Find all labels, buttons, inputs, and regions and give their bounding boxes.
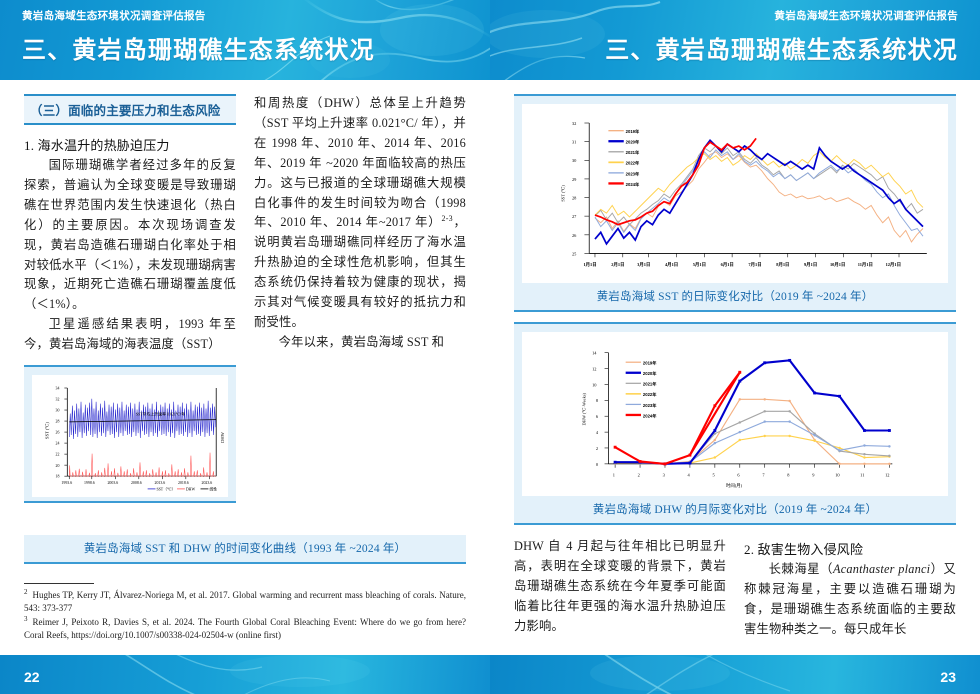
figure-plot-sst-dhw: 18 20 22 24 26 28 30 32 34 — [32, 375, 228, 497]
svg-text:2003.6: 2003.6 — [107, 481, 118, 485]
svg-text:11: 11 — [860, 472, 864, 477]
left-column-1: （三）面临的主要压力和生态风险 1. 海水温升的热胁迫压力 国际珊瑚礁学者经过多… — [24, 94, 236, 503]
left-page-body: （三）面临的主要压力和生态风险 1. 海水温升的热胁迫压力 国际珊瑚礁学者经过多… — [0, 80, 490, 655]
figure-plot-sst-daily: 25 26 27 28 29 30 31 32 SST (℃) 1月1日 — [522, 104, 948, 283]
figure-caption-dhw-monthly: 黄岩岛海域 DHW 的月际变化对比（2019 年 ~2024 年） — [522, 496, 948, 519]
chapter-title-right: 三、黄岩岛珊瑚礁生态系统状况 — [605, 30, 958, 65]
left-page: 黄岩岛海域生态环境状况调查评估报告 三、黄岩岛珊瑚礁生态系统状况 （三）面临的主… — [0, 0, 490, 694]
left-page-columns: （三）面临的主要压力和生态风险 1. 海水温升的热胁迫压力 国际珊瑚礁学者经过多… — [24, 94, 466, 503]
svg-text:2: 2 — [596, 446, 598, 451]
figure-caption-sst-dhw: 黄岩岛海域 SST 和 DHW 的时间变化曲线（1993 年 ~2024 年） — [32, 535, 458, 558]
svg-text:24: 24 — [56, 442, 60, 446]
svg-text:9月1日: 9月1日 — [804, 261, 817, 268]
svg-text:22: 22 — [56, 453, 60, 457]
svg-text:11月1日: 11月1日 — [858, 261, 873, 268]
cots-species-italic: Acanthaster planci — [833, 562, 930, 576]
footnote-3: 3Reimer J, Peixoto R, Davies S, et al. 2… — [24, 615, 466, 642]
svg-text:时间(月): 时间(月) — [726, 482, 743, 489]
left-column-2: 和周热度（DHW）总体呈上升趋势（SST 平均上升速率 0.021°C/ 年），… — [254, 94, 466, 503]
svg-text:DHW: DHW — [186, 487, 196, 491]
svg-text:32: 32 — [572, 121, 576, 126]
svg-text:2: 2 — [638, 472, 640, 477]
chart-dhw-monthly-compare: 0 2 4 6 8 10 12 14 DHW (℃·Weeks) 1 — [524, 334, 946, 494]
svg-text:3月1日: 3月1日 — [637, 261, 650, 268]
svg-text:1: 1 — [613, 472, 615, 477]
svg-text:34: 34 — [56, 387, 60, 391]
figure-caption-box-left: 黄岩岛海域 SST 和 DHW 的时间变化曲线（1993 年 ~2024 年） — [24, 535, 466, 564]
svg-text:26: 26 — [56, 431, 60, 435]
figure-caption-sst-daily: 黄岩岛海域 SST 的日际变化对比（2019 年 ~2024 年） — [522, 283, 948, 306]
svg-text:DHW: DHW — [220, 431, 225, 442]
svg-text:2013.6: 2013.6 — [154, 481, 165, 485]
paragraph-cots: 长棘海星（Acanthaster planci）又称棘冠海星，主要以造礁石珊瑚为… — [744, 560, 956, 640]
paragraph-4: 今年以来，黄岩岛海域 SST 和 — [254, 333, 466, 353]
svg-text:2021年: 2021年 — [626, 149, 640, 156]
svg-text:2024年: 2024年 — [626, 181, 640, 188]
svg-text:SST平均上升速率 0.021℃/年: SST平均上升速率 0.021℃/年 — [136, 411, 185, 416]
right-page-footer: 23 — [490, 655, 980, 694]
svg-text:18: 18 — [56, 475, 60, 479]
footnotes: 2Hughes TP, Kerry JT, Álvarez-Noriega M,… — [24, 583, 466, 643]
figure-box-dhw-monthly: 0 2 4 6 8 10 12 14 DHW (℃·Weeks) 1 — [514, 322, 956, 525]
footnote-3-number: 3 — [24, 615, 28, 623]
svg-text:SST (℃): SST (℃) — [560, 185, 565, 202]
svg-text:1月1日: 1月1日 — [583, 261, 596, 268]
svg-text:2月1日: 2月1日 — [611, 261, 624, 268]
svg-text:2020年: 2020年 — [643, 370, 657, 377]
footer-caustics-decoration-right — [490, 655, 980, 694]
right-column-1: DHW 自 4 月起与往年相比已明显升高，表明在全球变暖的背景下，黄岩岛珊瑚礁生… — [514, 537, 726, 640]
svg-text:12: 12 — [592, 366, 596, 371]
svg-text:1998.6: 1998.6 — [84, 481, 95, 485]
figure-box-sst-dhw: 18 20 22 24 26 28 30 32 34 — [24, 365, 236, 503]
svg-text:5月1日: 5月1日 — [693, 261, 706, 268]
right-page-body: 25 26 27 28 29 30 31 32 SST (℃) 1月1日 — [490, 80, 980, 655]
svg-text:12: 12 — [885, 472, 889, 477]
footnote-2-number: 2 — [24, 588, 28, 596]
figure-box-sst-daily: 25 26 27 28 29 30 31 32 SST (℃) 1月1日 — [514, 94, 956, 312]
cots-text-pre: 长棘海星（ — [769, 562, 833, 576]
svg-text:20: 20 — [56, 464, 60, 468]
svg-text:4月1日: 4月1日 — [665, 261, 678, 268]
sub-heading-1: 1. 海水温升的热胁迫压力 — [24, 135, 236, 154]
paragraph-3: 和周热度（DHW）总体呈上升趋势（SST 平均上升速率 0.021°C/ 年），… — [254, 94, 466, 333]
right-page-header: 黄岩岛海域生态环境状况调查评估报告 三、黄岩岛珊瑚礁生态系统状况 — [490, 0, 980, 80]
svg-text:2022年: 2022年 — [643, 391, 657, 398]
running-head-right: 黄岩岛海域生态环境状况调查评估报告 — [774, 10, 958, 23]
left-page-footer: 22 — [0, 655, 490, 694]
section-heading-text: （三）面临的主要压力和生态风险 — [30, 100, 230, 119]
paragraph-1: 国际珊瑚礁学者经过多年的反复探索，普遍认为全球变暖是导致珊瑚礁在世界范围内发生快… — [24, 156, 236, 315]
svg-text:SST（℃）: SST（℃） — [156, 486, 175, 491]
paragraph-3-text-cont: ，说明黄岩岛珊瑚礁同样经历了海水温升热胁迫的全球性危机影响，但其生态系统仍保持着… — [254, 216, 466, 330]
svg-text:2021年: 2021年 — [643, 381, 657, 388]
svg-text:2023年: 2023年 — [643, 402, 657, 409]
footnote-2: 2Hughes TP, Kerry JT, Álvarez-Noriega M,… — [24, 588, 466, 615]
chart-sst-dhw-timeseries: 18 20 22 24 26 28 30 32 34 — [34, 377, 226, 495]
chapter-title: 三、黄岩岛珊瑚礁生态系统状况 — [22, 30, 375, 65]
paragraph-2: 卫星遥感结果表明，1993 年至今，黄岩岛海域的海表温度（SST） — [24, 315, 236, 355]
figure-plot-dhw-monthly: 0 2 4 6 8 10 12 14 DHW (℃·Weeks) 1 — [522, 332, 948, 496]
svg-text:2022年: 2022年 — [626, 160, 640, 167]
svg-text:2024年: 2024年 — [643, 412, 657, 419]
footer-caustics-decoration — [0, 655, 490, 694]
svg-text:2023.6: 2023.6 — [202, 481, 213, 485]
paragraph-3-text: 和周热度（DHW）总体呈上升趋势（SST 平均上升速率 0.021°C/ 年），… — [254, 96, 466, 230]
svg-text:DHW (℃·Weeks): DHW (℃·Weeks) — [581, 392, 586, 425]
svg-text:8月1日: 8月1日 — [776, 261, 789, 268]
svg-text:2023年: 2023年 — [626, 170, 640, 177]
svg-text:6月1日: 6月1日 — [721, 261, 734, 268]
svg-text:32: 32 — [56, 398, 60, 402]
footnote-rule — [24, 583, 94, 584]
svg-text:线性: 线性 — [209, 486, 217, 491]
svg-text:2020年: 2020年 — [626, 139, 640, 146]
section-heading-box: （三）面临的主要压力和生态风险 — [24, 94, 236, 125]
svg-text:2019年: 2019年 — [626, 128, 640, 135]
svg-text:2019年: 2019年 — [643, 360, 657, 367]
right-page: 黄岩岛海域生态环境状况调查评估报告 三、黄岩岛珊瑚礁生态系统状况 25 — [490, 0, 980, 694]
footnote-2-text: Hughes TP, Kerry JT, Álvarez-Noriega M, … — [24, 590, 466, 613]
svg-text:1993.6: 1993.6 — [61, 481, 72, 485]
left-page-header: 黄岩岛海域生态环境状况调查评估报告 三、黄岩岛珊瑚礁生态系统状况 — [0, 0, 490, 80]
svg-text:28: 28 — [56, 420, 60, 424]
svg-text:30: 30 — [56, 409, 60, 413]
svg-text:12月1日: 12月1日 — [886, 261, 901, 268]
running-head: 黄岩岛海域生态环境状况调查评估报告 — [22, 10, 206, 23]
right-page-bottom-columns: DHW 自 4 月起与往年相比已明显升高，表明在全球变暖的背景下，黄岩岛珊瑚礁生… — [514, 537, 956, 640]
svg-text:7月1日: 7月1日 — [748, 261, 761, 268]
page-spread: 黄岩岛海域生态环境状况调查评估报告 三、黄岩岛珊瑚礁生态系统状况 （三）面临的主… — [0, 0, 980, 694]
sub-heading-2: 2. 敌害生物入侵风险 — [744, 539, 956, 558]
svg-text:10月1日: 10月1日 — [830, 261, 845, 268]
chart-sst-daily-compare: 25 26 27 28 29 30 31 32 SST (℃) 1月1日 — [524, 106, 946, 281]
paragraph-dhw: DHW 自 4 月起与往年相比已明显升高，表明在全球变暖的背景下，黄岩岛珊瑚礁生… — [514, 537, 726, 637]
right-column-2: 2. 敌害生物入侵风险 长棘海星（Acanthaster planci）又称棘冠… — [744, 537, 956, 640]
svg-text:31: 31 — [572, 140, 576, 145]
svg-text:SST (℃): SST (℃) — [45, 422, 50, 439]
svg-text:2018.6: 2018.6 — [178, 481, 189, 485]
page-number-right: 23 — [940, 669, 956, 685]
reference-marker: 2-3 — [442, 214, 453, 223]
svg-text:2008.6: 2008.6 — [131, 481, 142, 485]
page-number-left: 22 — [24, 669, 40, 685]
footnote-3-text: Reimer J, Peixoto R, Davies S, et al. 20… — [24, 617, 466, 640]
